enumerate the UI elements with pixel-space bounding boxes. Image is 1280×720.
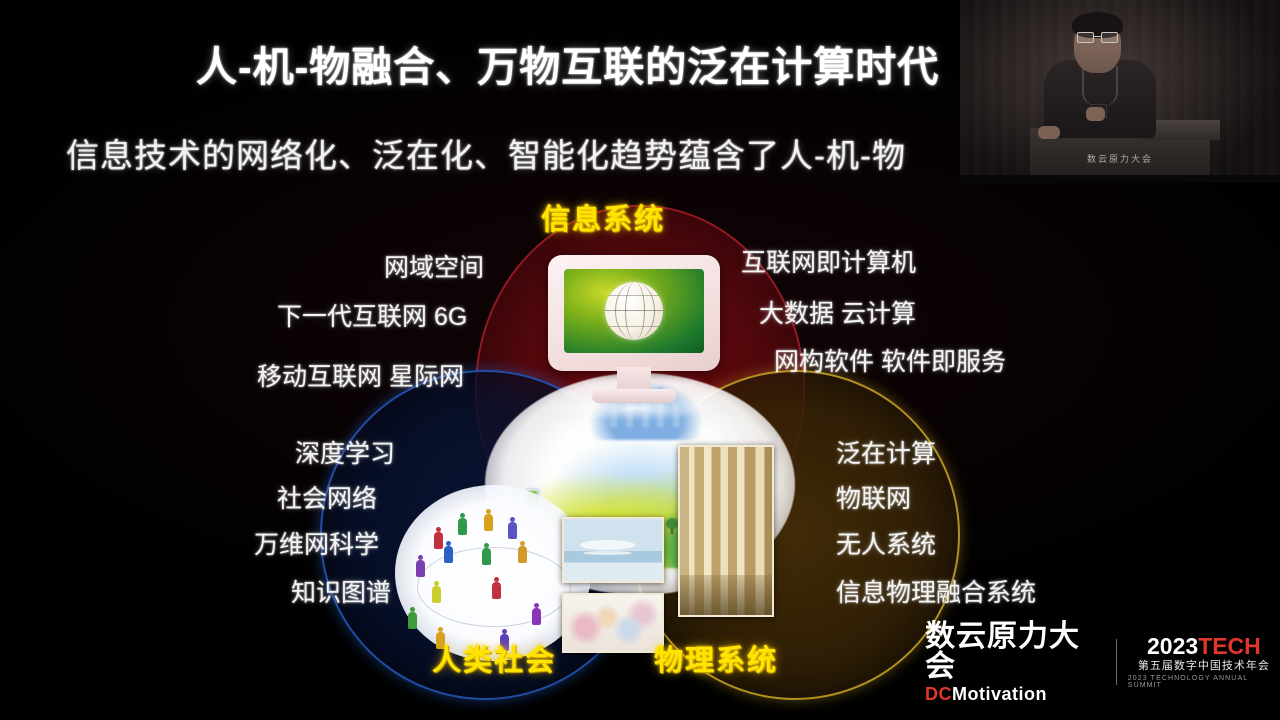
pip-bottom-bar bbox=[960, 175, 1280, 183]
logo-brand-en-motivation: Motivation bbox=[952, 684, 1047, 704]
caption-physical-system: 物理系统 bbox=[654, 637, 778, 679]
logo-event-cn: 第五届数字中国技术年会 bbox=[1138, 661, 1270, 672]
logo-brand-cn: 数云原力大会 bbox=[925, 622, 1105, 682]
label-bottom-left-1: 社会网络 bbox=[277, 479, 377, 515]
logo-event: 2023TECH 第五届数字中国技术年会 2023 TECHNOLOGY ANN… bbox=[1128, 635, 1280, 689]
logo-brand-en: DCMotivation bbox=[925, 685, 1105, 703]
globe-icon bbox=[605, 282, 663, 340]
pip-caption: 数云原力大会 bbox=[960, 152, 1280, 165]
logo-year-tech: TECH bbox=[1198, 633, 1261, 659]
label-bottom-left-0: 深度学习 bbox=[295, 434, 395, 470]
eyeglasses-icon bbox=[1077, 32, 1118, 41]
event-logo: 数云原力大会 DCMotivation 2023TECH 第五届数字中国技术年会… bbox=[925, 631, 1280, 693]
crowd-photo bbox=[562, 593, 664, 653]
label-top-left-1: 下一代互联网 6G bbox=[277, 297, 467, 333]
speaker-video-overlay[interactable]: 数云原力大会 bbox=[960, 0, 1280, 183]
slide-stage: 人-机-物融合、万物互联的泛在计算时代 信息技术的网络化、泛在化、智能化趋势蕴含… bbox=[0, 0, 1280, 720]
label-top-right-1: 大数据 云计算 bbox=[759, 294, 916, 330]
label-top-left-2: 移动互联网 星际网 bbox=[257, 357, 464, 393]
skyscraper-photo bbox=[678, 445, 774, 617]
label-top-left-0: 网域空间 bbox=[384, 248, 484, 284]
label-bottom-right-3: 信息物理融合系统 bbox=[836, 573, 1036, 609]
page-subtitle: 信息技术的网络化、泛在化、智能化趋势蕴含了人-机-物 bbox=[66, 129, 1066, 177]
computer-monitor-icon bbox=[548, 255, 720, 405]
logo-brand-en-dc: DC bbox=[925, 684, 952, 704]
logo-year-number: 2023 bbox=[1147, 633, 1198, 659]
logo-divider bbox=[1116, 639, 1117, 685]
logo-event-en: 2023 TECHNOLOGY ANNUAL SUMMIT bbox=[1128, 675, 1280, 689]
speaker-hand-left bbox=[1038, 126, 1060, 139]
label-bottom-left-3: 知识图谱 bbox=[291, 573, 391, 609]
logo-brand: 数云原力大会 DCMotivation bbox=[925, 622, 1105, 703]
label-bottom-right-0: 泛在计算 bbox=[836, 434, 936, 470]
label-bottom-right-1: 物联网 bbox=[836, 479, 911, 515]
label-top-right-0: 互联网即计算机 bbox=[741, 243, 916, 279]
logo-year: 2023TECH bbox=[1147, 635, 1261, 658]
speaker-hand-right bbox=[1086, 107, 1105, 121]
label-bottom-left-2: 万维网科学 bbox=[254, 525, 379, 561]
aircraft-photo bbox=[562, 517, 664, 583]
label-bottom-right-2: 无人系统 bbox=[836, 525, 936, 561]
caption-human-society: 人类社会 bbox=[432, 637, 556, 679]
label-top-right-2: 网构软件 软件即服务 bbox=[774, 342, 1006, 378]
caption-information-system: 信息系统 bbox=[541, 196, 665, 238]
